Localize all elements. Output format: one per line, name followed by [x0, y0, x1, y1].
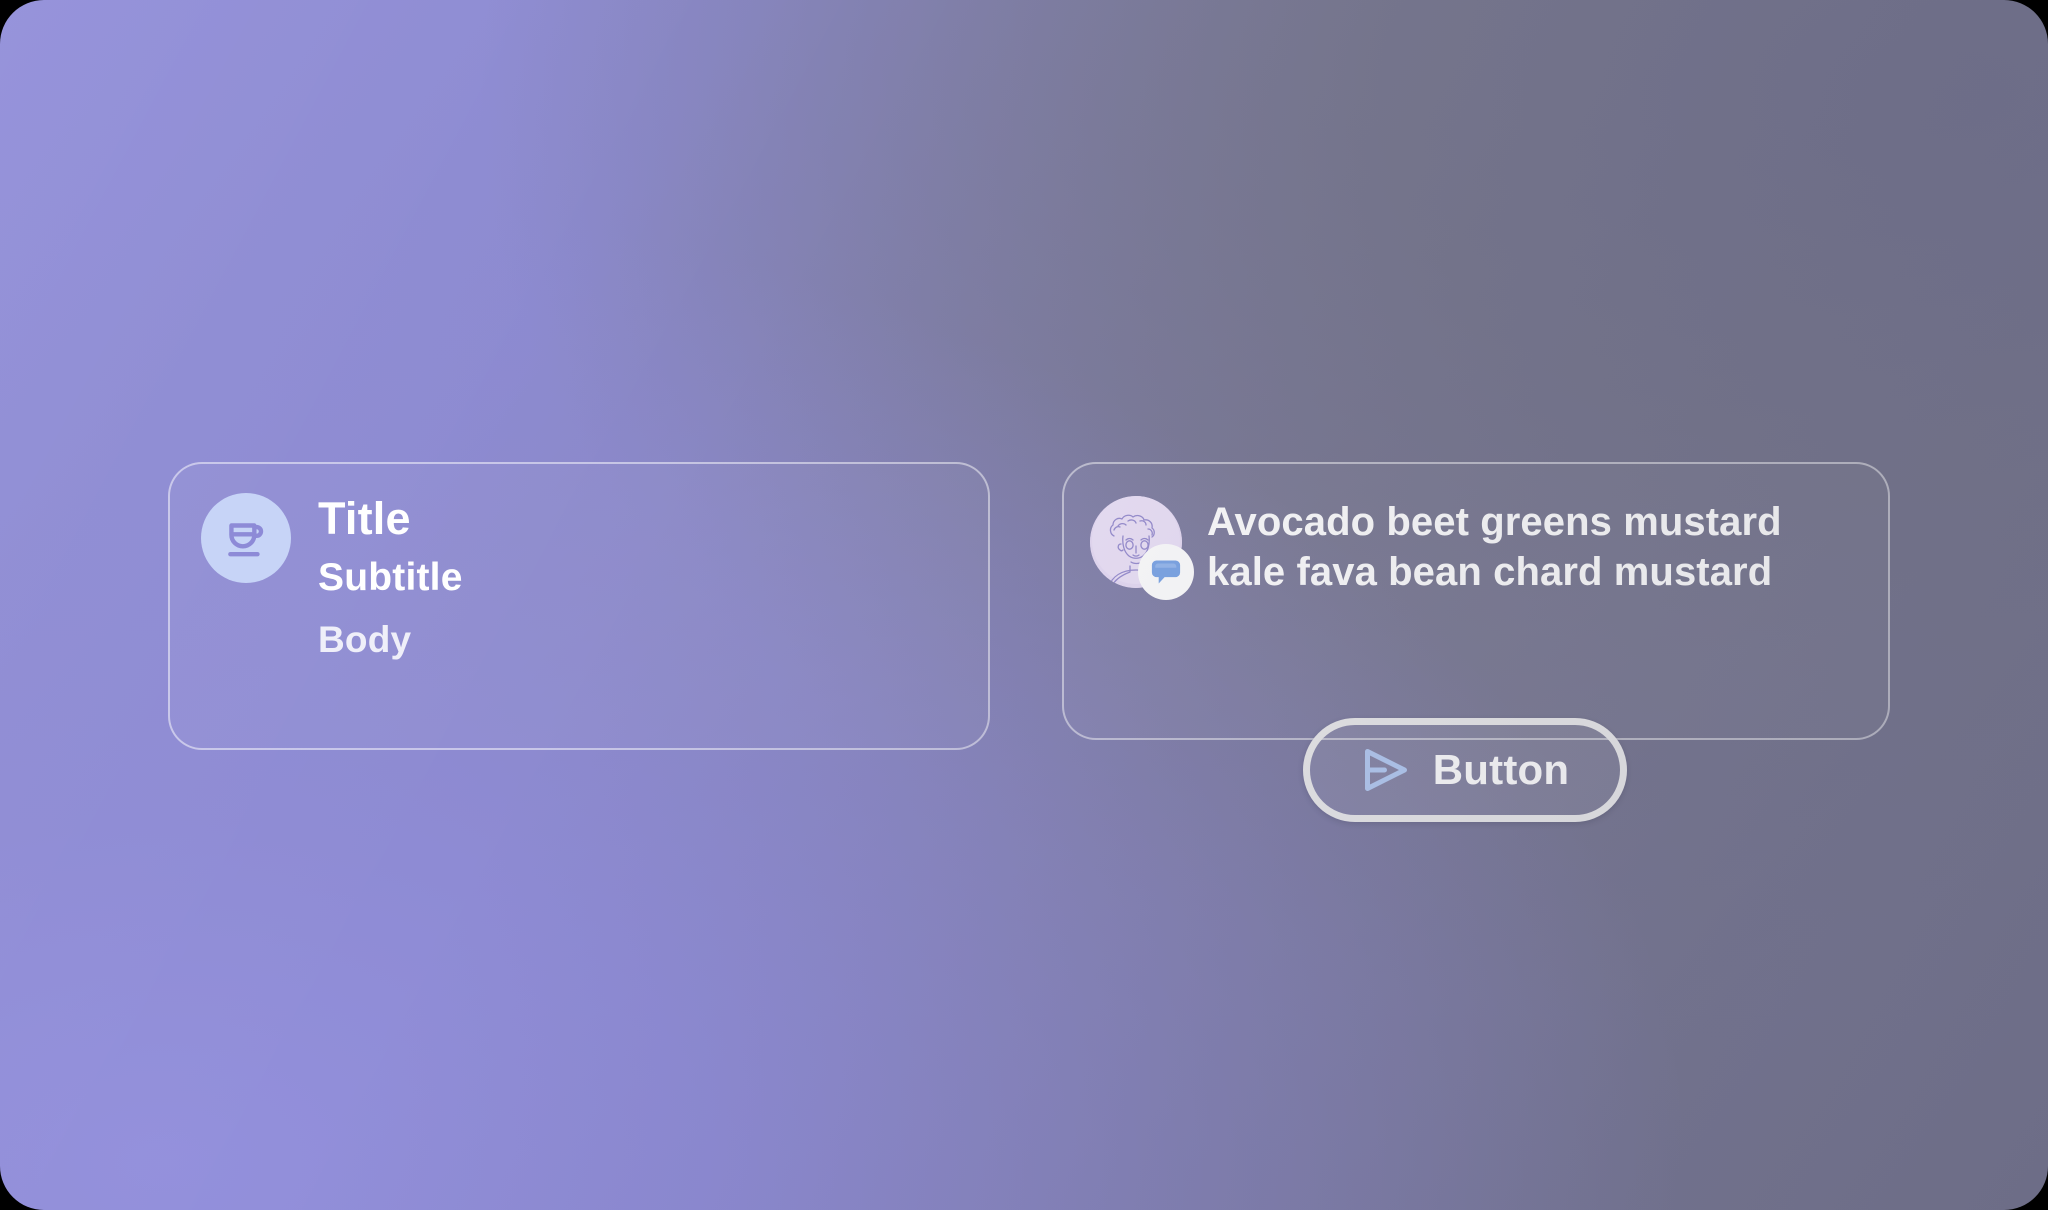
card-body: Body — [318, 621, 463, 660]
avatar[interactable] — [1090, 496, 1182, 588]
chat-bubble-icon — [1138, 544, 1194, 600]
left-card-content: Title Subtitle Body — [201, 493, 964, 660]
card-headline: Avocado beet greens mustard kale fava be… — [1207, 496, 1832, 598]
preview-canvas: Title Subtitle Body — [0, 0, 2048, 1210]
info-card-right[interactable]: Avocado beet greens mustard kale fava be… — [1062, 462, 1890, 740]
send-button[interactable]: Button — [1303, 718, 1627, 822]
send-button-label: Button — [1433, 749, 1569, 791]
card-title: Title — [318, 495, 463, 542]
send-icon — [1361, 747, 1411, 793]
right-card-content: Avocado beet greens mustard kale fava be… — [1090, 496, 1862, 598]
coffee-cup-icon — [201, 493, 291, 583]
left-card-text: Title Subtitle Body — [318, 493, 463, 660]
info-card-left[interactable]: Title Subtitle Body — [168, 462, 990, 750]
card-subtitle: Subtitle — [318, 558, 463, 599]
